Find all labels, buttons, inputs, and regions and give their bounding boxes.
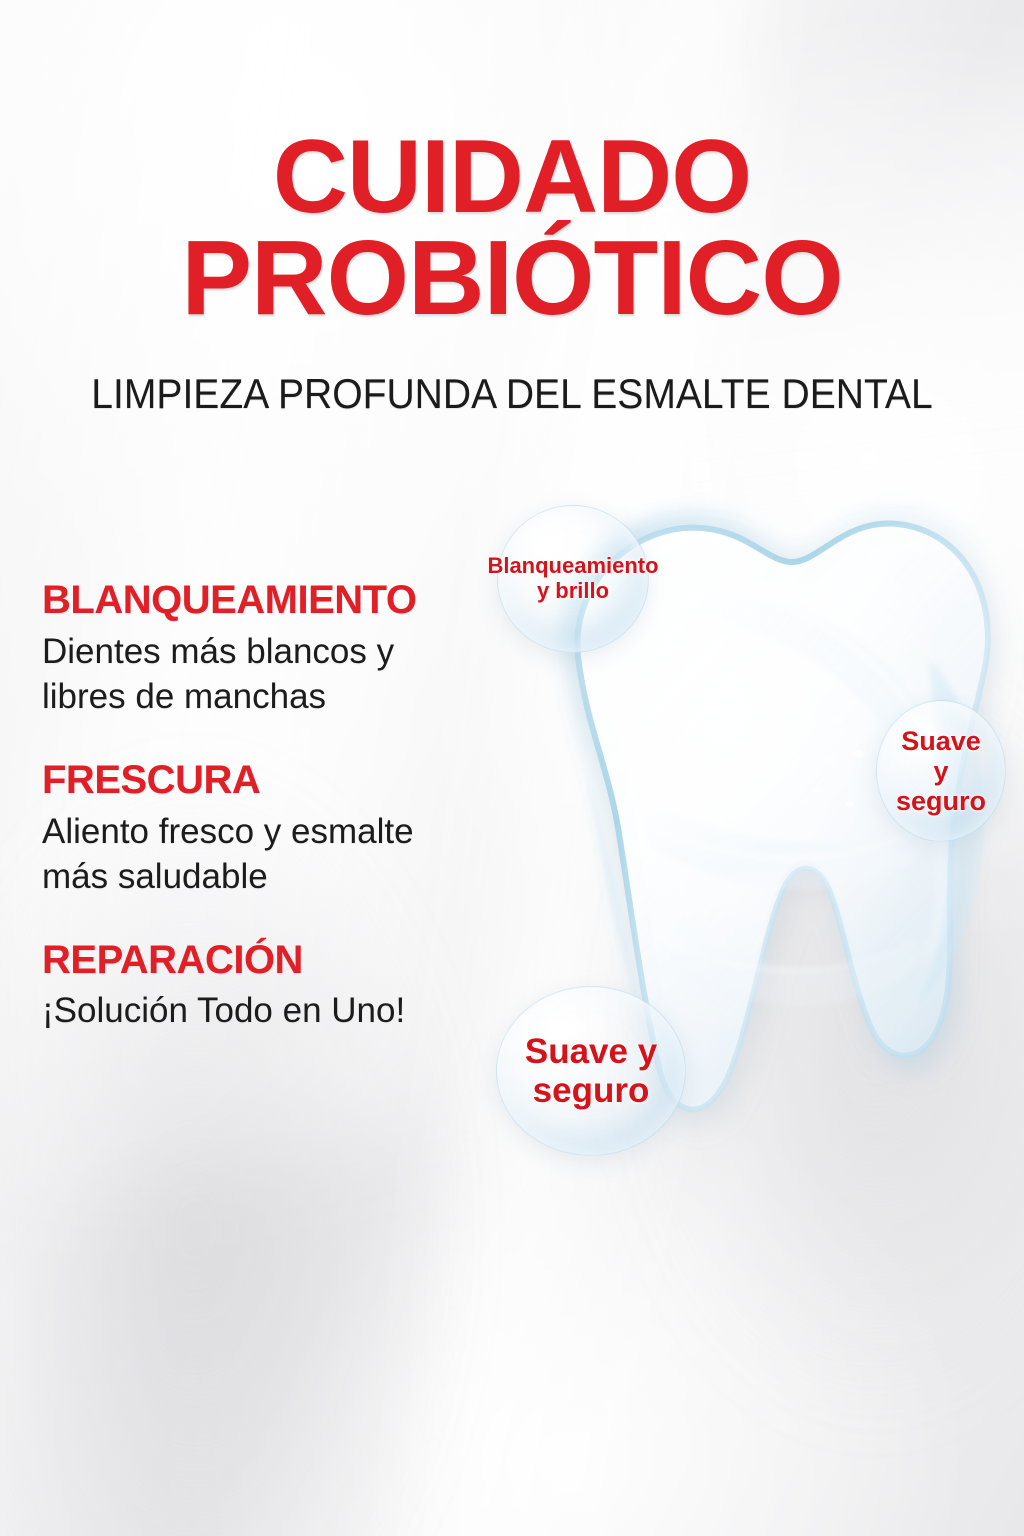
bubble-label-line-1: Suave xyxy=(901,726,981,756)
feature-desc-line-2: libres de manchas xyxy=(42,674,472,720)
headline-block: CUIDADO PROBIÓTICO xyxy=(0,128,1024,330)
bubble-label: Suave y seguro xyxy=(496,1032,686,1110)
feature-title: REPARACIÓN xyxy=(42,938,472,983)
bubble-label-line-3: seguro xyxy=(896,786,986,816)
feature-list: BLANQUEAMIENTO Dientes más blancos y lib… xyxy=(42,578,472,1034)
bubble-label: Blanqueamiento y brillo xyxy=(487,554,658,603)
bubble-label-line-2: seguro xyxy=(533,1071,650,1110)
bubble-label-line-2: y brillo xyxy=(537,578,609,603)
bubble-label: Suave y seguro xyxy=(876,726,1006,817)
bubble-label-line-1: Blanqueamiento xyxy=(487,553,658,578)
bubble-blanqueamiento-y-brillo[interactable]: Blanqueamiento y brillo xyxy=(497,505,649,653)
feature-title: BLANQUEAMIENTO xyxy=(42,578,472,623)
poster-canvas: CUIDADO PROBIÓTICO LIMPIEZA PROFUNDA DEL… xyxy=(0,0,1024,1536)
subtitle: LIMPIEZA PROFUNDA DEL ESMALTE DENTAL xyxy=(36,370,988,418)
bubble-label-line-1: Suave y xyxy=(525,1032,657,1071)
bubble-label-line-2: y xyxy=(933,756,948,786)
feature-desc-line-1: Dientes más blancos y xyxy=(42,629,472,675)
feature-title: FRESCURA xyxy=(42,758,472,803)
feature-desc-line-1: Aliento fresco y esmalte xyxy=(42,809,472,855)
bubble-suave-y-seguro-bottom[interactable]: Suave y seguro xyxy=(496,986,686,1156)
bubble-suave-y-seguro-right[interactable]: Suave y seguro xyxy=(876,700,1006,842)
feature-item-reparacion: REPARACIÓN ¡Solución Todo en Uno! xyxy=(42,938,472,1034)
feature-desc-line-2: más saludable xyxy=(42,854,472,900)
headline-line-2: PROBIÓTICO xyxy=(0,228,1024,330)
feature-item-blanqueamiento: BLANQUEAMIENTO Dientes más blancos y lib… xyxy=(42,578,472,720)
feature-item-frescura: FRESCURA Aliento fresco y esmalte más sa… xyxy=(42,758,472,900)
feature-desc-line-1: ¡Solución Todo en Uno! xyxy=(42,988,472,1034)
headline-line-1: CUIDADO xyxy=(0,128,1024,228)
